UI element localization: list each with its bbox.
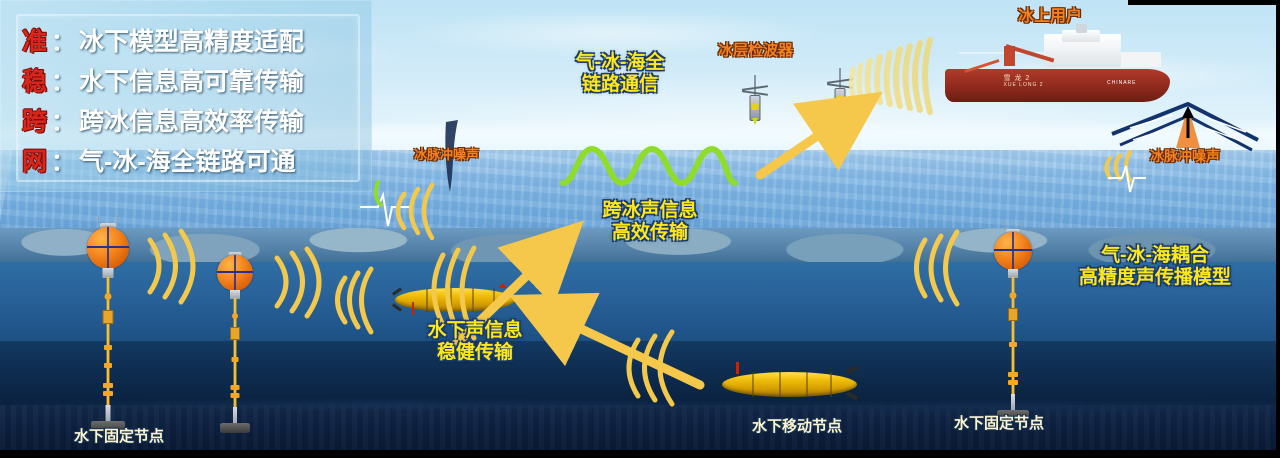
label-full-link-line2: 链路通信 — [530, 74, 710, 96]
ice-pulse-sonar-arcs-left — [398, 185, 432, 238]
label-ice-pulse-noise-left: 冰脉冲噪声 — [414, 147, 479, 162]
label-coupled-line1: 气-冰-海耦合 — [1055, 245, 1255, 267]
label-underwater-acoustic-transmission: 水下声信息 稳健传输 — [400, 320, 550, 365]
panel-value-1: 冰下模型高精度适配 — [79, 22, 304, 58]
ice-pressure-ridge-diagram — [1112, 104, 1258, 150]
panel-value-2: 水下信息高可靠传输 — [79, 62, 304, 98]
frame-edge-right — [1276, 0, 1280, 458]
panel-key-3: 跨 — [22, 102, 47, 138]
scene-canvas: 雪 龙 2 XUE LONG 2 CHINARE — [0, 0, 1280, 458]
panel-colon-1: ： — [51, 22, 75, 57]
label-underwater-line2: 稳健传输 — [400, 342, 550, 364]
panel-row-1: 准 ： 冰下模型高精度适配 — [22, 22, 304, 58]
label-ice-pulse-noise-right: 冰脉冲噪声 — [1150, 148, 1220, 165]
panel-colon-2: ： — [51, 62, 75, 97]
panel-row-2: 稳 ： 水下信息高可靠传输 — [22, 62, 304, 98]
label-underwater-line1: 水下声信息 — [400, 320, 550, 342]
ship-to-geophone-sonar-fan — [852, 40, 931, 112]
panel-value-4: 气-冰-海全链路可通 — [79, 142, 296, 178]
panel-colon-3: ： — [51, 102, 75, 137]
acoustic-sine-wave-icon — [563, 149, 735, 183]
label-ice-geophone: 冰层检波器 — [718, 42, 793, 60]
buoy2-sonar-arcs — [277, 249, 319, 316]
buoy2-sonar-arcs-far — [338, 269, 372, 332]
panel-row-4: 网 ： 气-冰-海全链路可通 — [22, 142, 296, 178]
label-coupled-line2: 高精度声传播模型 — [1055, 267, 1255, 289]
label-cross-ice-line1: 跨冰声信息 — [565, 200, 735, 222]
label-fixed-node-left: 水下固定节点 — [74, 428, 164, 446]
label-mobile-node: 水下移动节点 — [752, 418, 842, 436]
green-hook-wave — [376, 182, 381, 205]
fixed-node-3-sonar-arcs — [917, 232, 958, 304]
panel-colon-4: ： — [51, 142, 75, 177]
label-full-link-communication: 气-冰-海全 链路通信 — [530, 52, 710, 97]
panel-value-3: 跨冰信息高效率传输 — [79, 102, 304, 138]
arrow-to-geophone — [760, 122, 838, 175]
label-fixed-node-right: 水下固定节点 — [954, 415, 1044, 433]
label-cross-ice-line2: 高效传输 — [565, 222, 735, 244]
label-coupled-propagation-model: 气-冰-海耦合 高精度声传播模型 — [1055, 245, 1255, 290]
panel-key-4: 网 — [22, 142, 47, 178]
key-points-panel: 准 ： 冰下模型高精度适配 稳 ： 水下信息高可靠传输 跨 ： 跨冰信息高效率传… — [0, 0, 372, 192]
label-ice-user: 冰上用户 — [1018, 8, 1082, 27]
panel-key-1: 准 — [22, 22, 47, 58]
panel-key-2: 稳 — [22, 62, 47, 98]
label-full-link-line1: 气-冰-海全 — [530, 52, 710, 74]
frame-edge-top-right — [1128, 0, 1280, 5]
panel-row-3: 跨 ： 跨冰信息高效率传输 — [22, 102, 304, 138]
buoy1-sonar-arcs — [150, 231, 193, 302]
label-cross-ice-transmission: 跨冰声信息 高效传输 — [565, 200, 735, 245]
frame-edge-bottom — [0, 450, 1280, 458]
